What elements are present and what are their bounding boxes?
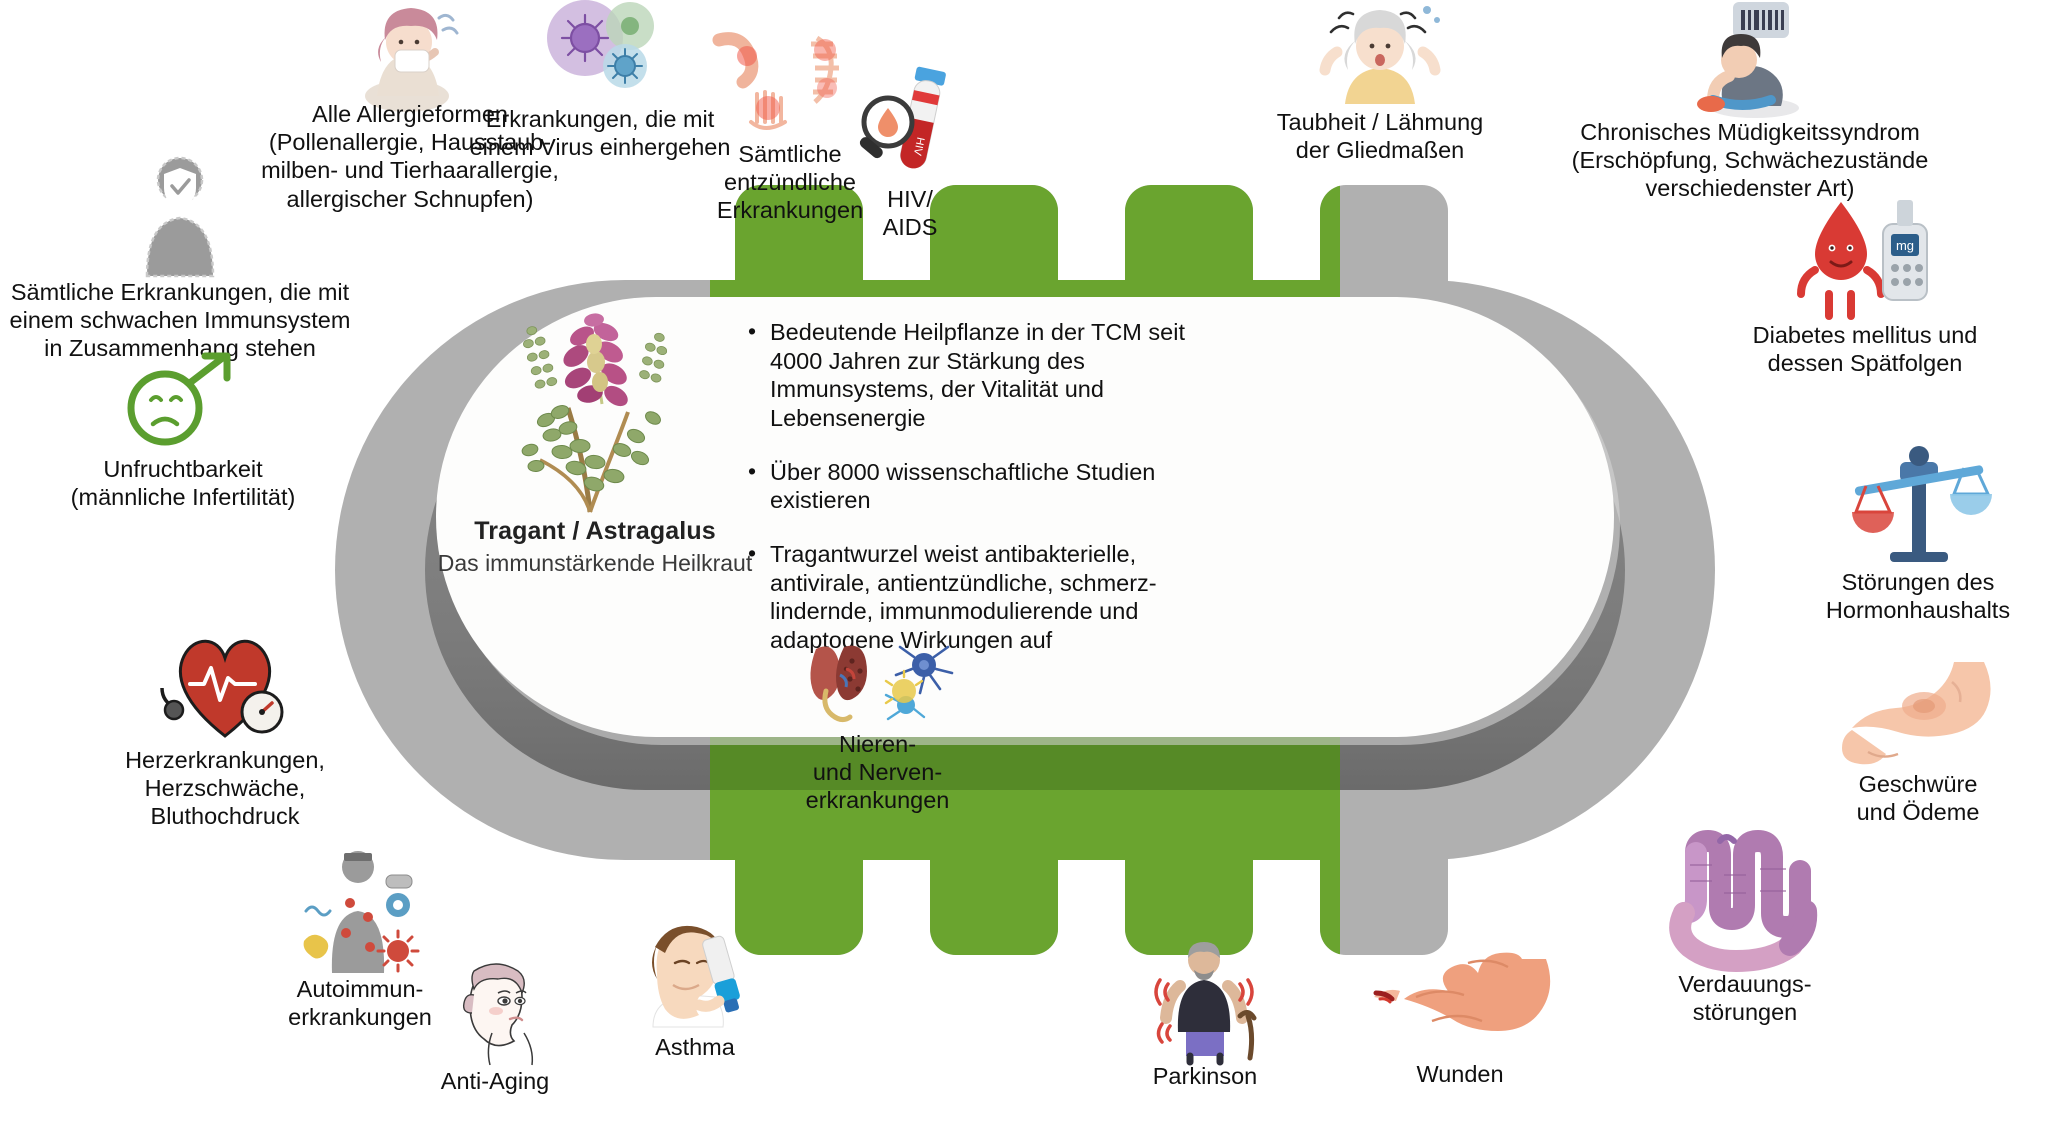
male-symbol-sad-icon [28,350,338,455]
center-bullet-1: Bedeutende Heilpflanze in der TCM seit 4… [748,318,1240,433]
callout-geschwuere: Geschwüre und Ödeme [1790,660,2046,826]
callout-taubheit-label: Taubheit / Lähmung der Gliedmaßen [1235,108,1525,164]
callout-hormone: Störungen des Hormonhaushalts [1790,440,2046,624]
inhaler-woman-icon [605,915,785,1033]
swollen-foot-icon [1790,660,2046,770]
cut-finger-hand-icon [1355,945,1565,1060]
callout-nieren-nerven-label: Nieren- und Nerven- erkrankungen [765,730,990,815]
tremor-man-cane-icon [1110,940,1300,1062]
callout-nieren-nerven: Nieren- und Nerven- erkrankungen [765,635,990,815]
callout-asthma-label: Asthma [605,1033,785,1061]
callout-diabetes-label: Diabetes mellitus und dessen Spätfolgen [1700,321,2030,377]
numb-limbs-woman-icon [1235,0,1525,108]
infographic-canvas: Tragant / Astragalus Das immunstärkende … [0,0,2048,1125]
plant-title: Tragant / Astragalus [474,517,715,546]
callout-diabetes: mg Diabetes mellitus und dessen Spätfolg… [1700,196,2030,377]
callout-herz-label: Herzerkrankungen, Herzschwäche, Bluthoch… [80,746,370,831]
callout-wunden-label: Wunden [1355,1060,1565,1088]
callout-asthma: Asthma [605,915,785,1061]
callout-hormone-label: Störungen des Hormonhaushalts [1790,568,2046,624]
plant-column: Tragant / Astragalus Das immunstärkende … [450,300,740,577]
kidneys-neurons-icon [765,635,990,730]
callout-parkinson: Parkinson [1110,940,1300,1090]
callout-verdauung: Verdauungs- störungen [1610,835,1880,1026]
callout-anti-aging: Anti-Aging [400,955,590,1095]
person-shield-icon [0,148,360,278]
hormone-balance-scale-icon [1790,440,2046,568]
callout-hiv: HIV HIV/ AIDS [845,60,975,241]
callout-muedigkeit: Chronisches Müdigkeitssyndrom (Erschöpfu… [1520,0,1980,203]
callout-unfruchtbarkeit-label: Unfruchtbarkeit (männliche Infertilität) [28,455,338,511]
callout-geschwuere-label: Geschwüre und Ödeme [1790,770,2046,826]
heart-blood-pressure-icon [80,618,370,746]
callout-verdauung-label: Verdauungs- störungen [1610,970,1880,1026]
callout-hiv-label: HIV/ AIDS [845,185,975,241]
plant-subtitle: Das immunstärkende Heilkraut [438,550,752,577]
callout-herz: Herzerkrankungen, Herzschwäche, Bluthoch… [80,618,370,831]
center-content: Tragant / Astragalus Das immunstärkende … [450,300,1240,590]
callout-anti-aging-label: Anti-Aging [400,1067,590,1095]
center-bullet-list: Bedeutende Heilpflanze in der TCM seit 4… [740,300,1240,655]
astragalus-plant-illustration [490,300,700,515]
callout-unfruchtbarkeit: Unfruchtbarkeit (männliche Infertilität) [28,350,338,511]
center-bullet-2: Über 8000 wissenschaftliche Studien exis… [748,458,1240,515]
callout-wunden: Wunden [1355,945,1565,1088]
blood-sample-magnifier-icon: HIV [845,60,975,185]
woman-face-profile-icon [400,955,590,1067]
exhausted-person-icon [1520,0,1980,118]
callout-taubheit: Taubheit / Lähmung der Gliedmaßen [1235,0,1525,164]
blood-drop-glucometer-icon: mg [1700,196,2030,321]
callout-immunschwach: Sämtliche Erkrankungen, die mit einem sc… [0,148,360,363]
svg-text:mg: mg [1896,238,1914,253]
callout-muedigkeit-label: Chronisches Müdigkeitssyndrom (Erschöpfu… [1520,118,1980,203]
intestines-icon [1610,835,1880,970]
callout-parkinson-label: Parkinson [1110,1062,1300,1090]
